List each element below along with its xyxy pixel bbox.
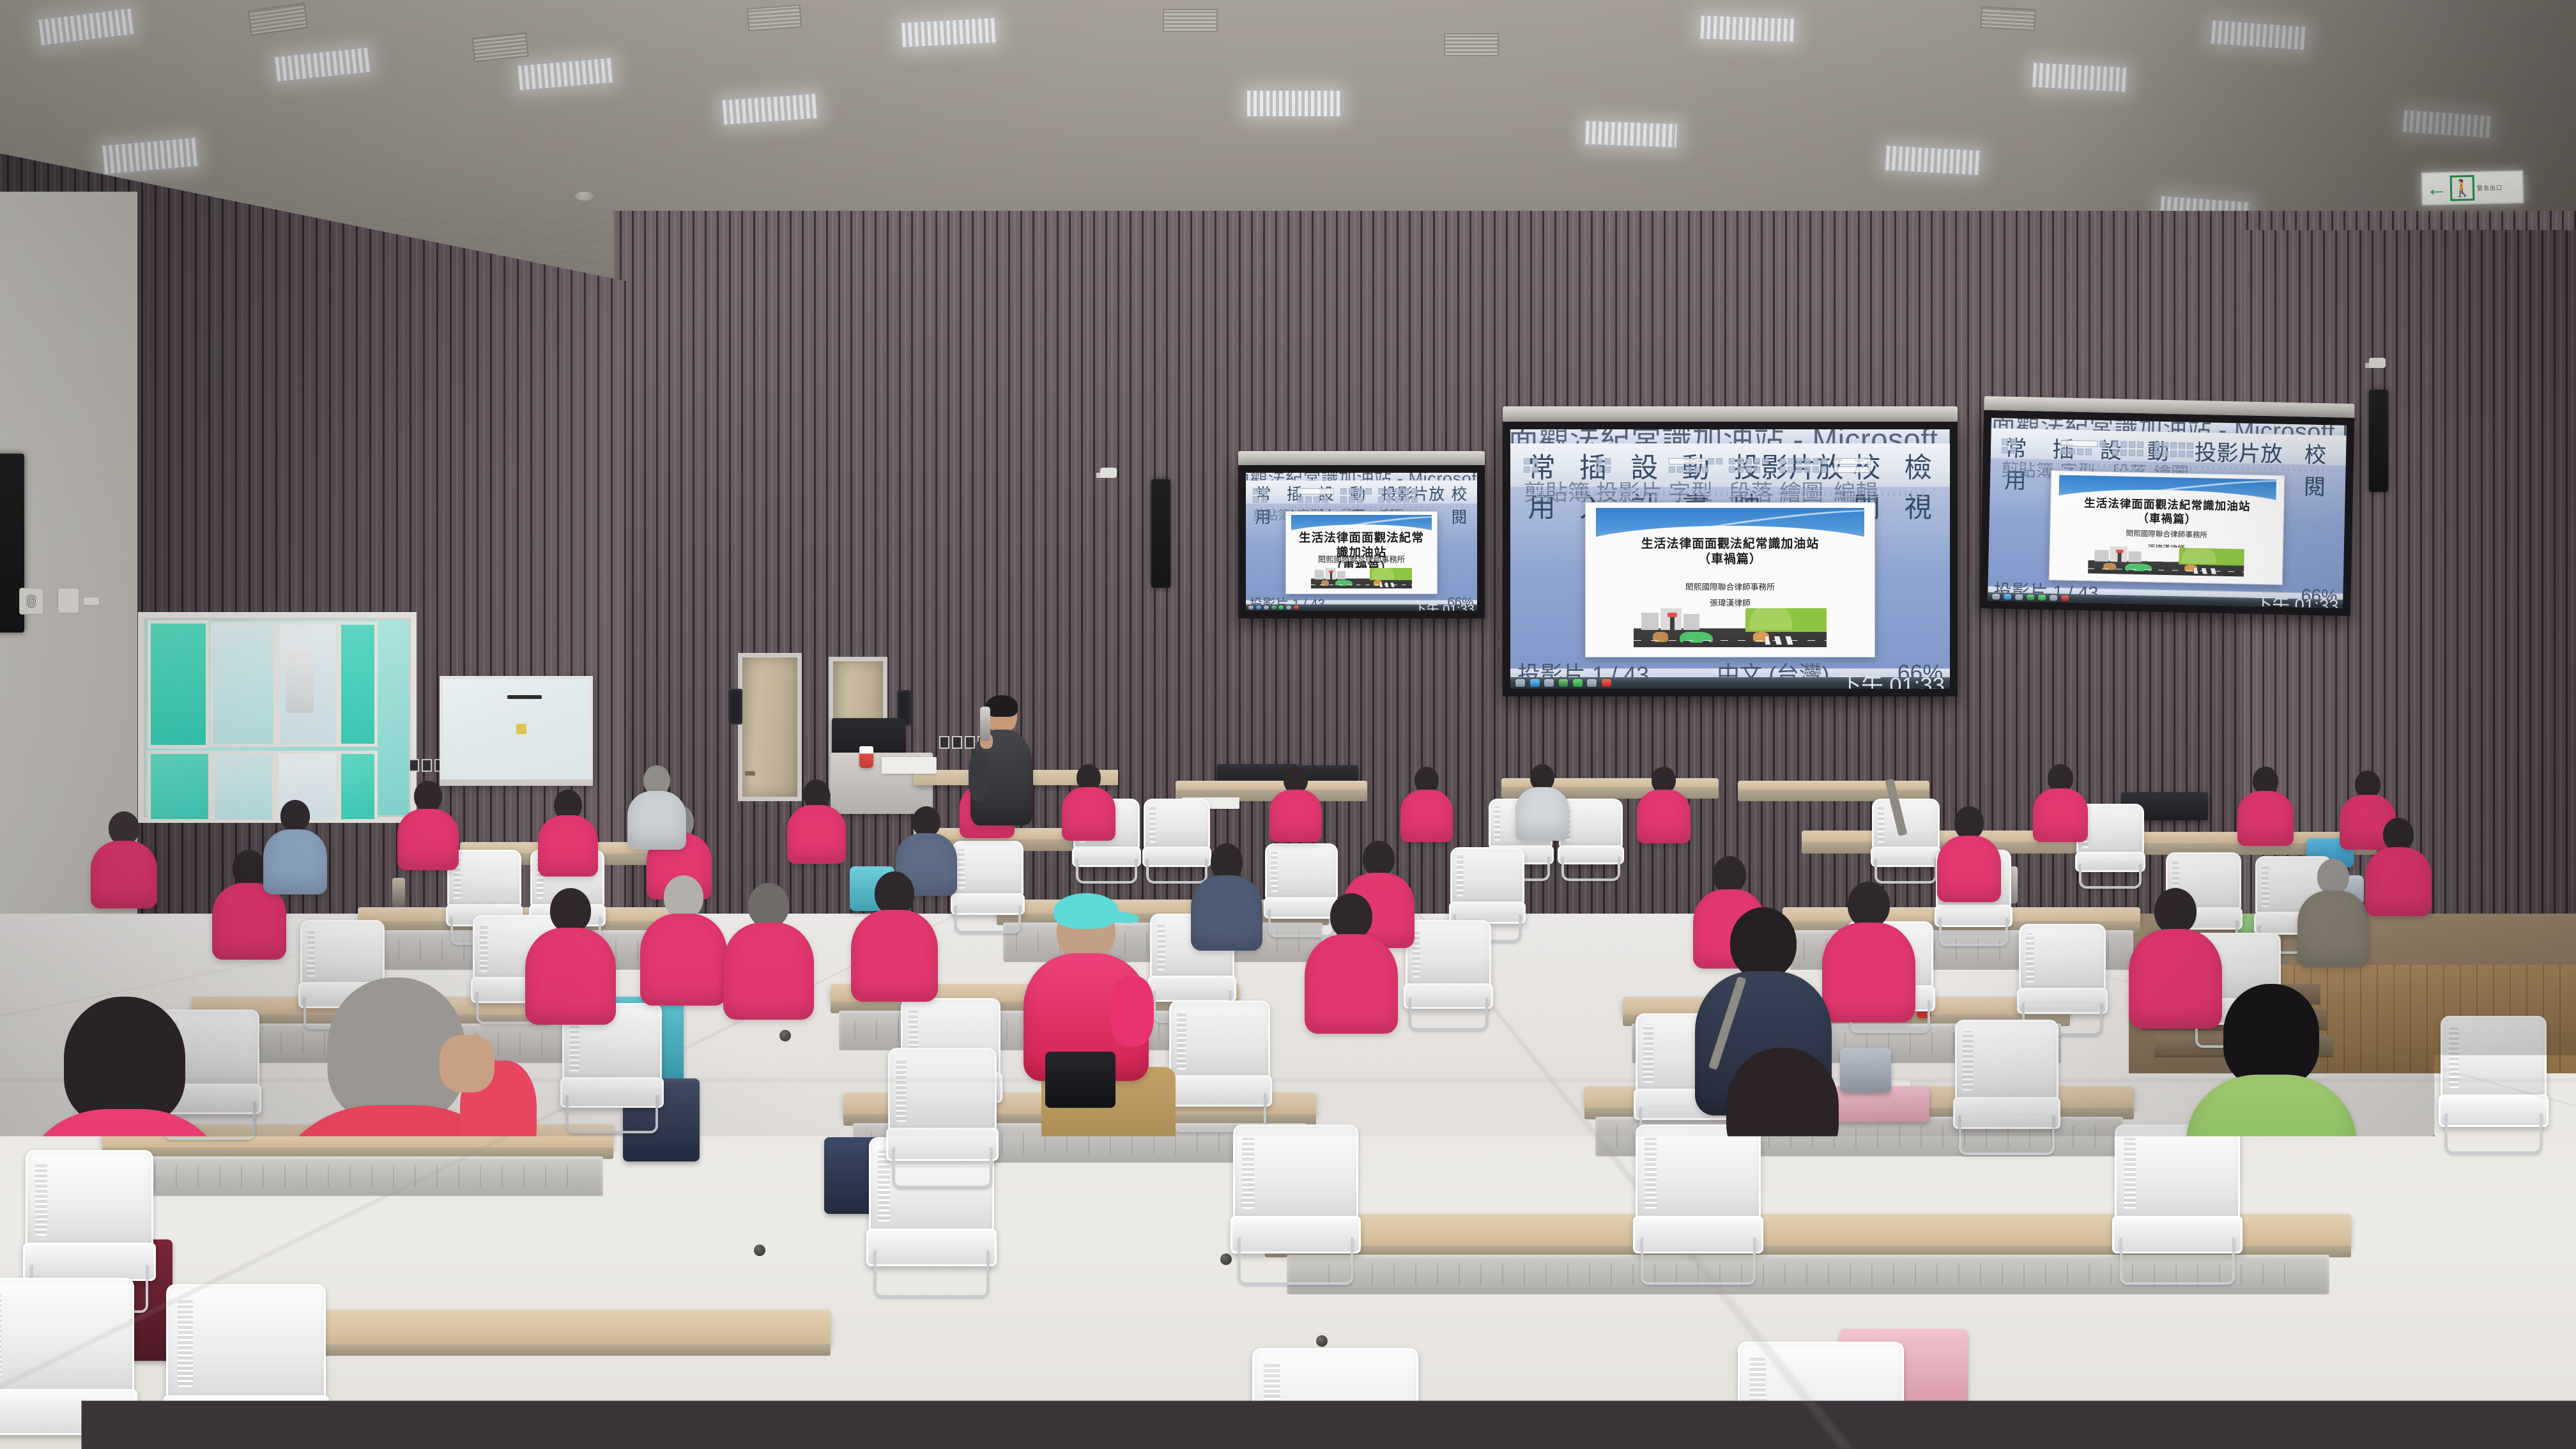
chair[interactable] [888, 1048, 997, 1186]
attendee-torso [1688, 1207, 1877, 1329]
sticky-note-icon [516, 724, 526, 734]
window-pane [338, 751, 378, 822]
window-pane [210, 622, 277, 747]
attendee-head [1730, 907, 1797, 979]
ppt-ribbon: 常用 插入 設計 動畫 投影片放映 校閱 剪貼簿 字型 段落 繪圖 [1246, 480, 1477, 504]
windows-taskbar[interactable]: 下午 01:33 [1510, 677, 1950, 689]
projected-image: 生活法律面面觀法紀常識加油站 - Microsoft PowerPoint 常用… [1510, 429, 1950, 689]
taskbar-clock: 下午 01:33 [1414, 599, 1475, 611]
attendee [1936, 806, 2002, 901]
chair[interactable] [952, 841, 1023, 931]
ppt-ruler [1537, 490, 1923, 497]
taskbar-clock: 下午 01:33 [1839, 667, 1945, 689]
window-pane [277, 622, 339, 747]
screen-frame: 生活法律面面觀法紀常識加油站 - Microsoft PowerPoint 常用… [1503, 422, 1958, 696]
table-caster [1316, 1335, 1328, 1347]
chair[interactable] [2019, 924, 2106, 1034]
left-projection-screen: 生活法律面面觀法紀常識加油站 - Microsoft PowerPoint 常用… [1238, 465, 1485, 618]
whiteboard-tray [440, 779, 592, 786]
ppt-ruler [1260, 505, 1464, 509]
center-projection-screen: 生活法律面面觀法紀常識加油站 - Microsoft PowerPoint 常用… [1503, 422, 1958, 696]
attendee-head [64, 997, 185, 1124]
attendee [1514, 764, 1570, 839]
slide-illustration [2088, 546, 2244, 577]
attendee [524, 888, 617, 1022]
taskbar-start-icon[interactable] [1515, 679, 1525, 687]
attendee-hand [440, 1035, 494, 1092]
taskbar-browser-icon[interactable] [1256, 606, 1261, 609]
table-caster [1220, 1253, 1232, 1265]
taskbar-media-icon[interactable] [1587, 679, 1597, 687]
running-person-icon: 🚶 [2450, 175, 2475, 201]
attendee [2364, 818, 2433, 915]
emergency-exit-sign: ← 🚶 緊急出口 [2421, 170, 2524, 205]
attendee [1687, 1048, 1878, 1322]
microphone-icon [980, 707, 990, 741]
chair[interactable] [1872, 799, 1940, 882]
attendee-arm [1110, 976, 1154, 1046]
attendee [786, 779, 847, 862]
taskbar-pdf-icon[interactable] [2061, 595, 2069, 601]
taskbar-pdf-icon[interactable] [1294, 606, 1299, 609]
wall-speaker-back-left [1151, 479, 1170, 588]
taskbar-pdf-icon[interactable] [1602, 679, 1611, 687]
chair[interactable] [1738, 1342, 1904, 1449]
presenter [963, 698, 1040, 825]
taskbar-browser-icon[interactable] [2004, 594, 2011, 599]
slide-illustration [1634, 608, 1827, 647]
paper-cup [859, 746, 873, 768]
presenter-hair [986, 695, 1018, 717]
attendee-torso [2364, 1259, 2576, 1449]
ppt-group-label: 剪貼簿 [2001, 455, 2054, 482]
taskbar-media-icon[interactable] [1286, 606, 1291, 609]
slide-canvas: 生活法律面面觀法紀常識加油站 （車禍篇） 閎熙國際聯合律師事務所 張瑋漢律師 [1285, 511, 1438, 594]
chair[interactable] [1233, 1124, 1358, 1282]
exit-arrow-icon: ← [2426, 178, 2448, 200]
window-pane [338, 622, 378, 747]
attendee-foreground-right [2364, 1112, 2576, 1449]
chair[interactable] [0, 1278, 134, 1449]
attendee [639, 875, 728, 1003]
attendee [1190, 843, 1264, 949]
windows-taskbar[interactable]: 下午 01:33 [1246, 604, 1477, 611]
whiteboard-marker-icon [507, 695, 542, 699]
window-pane [148, 620, 209, 748]
attendee [1061, 764, 1117, 839]
attendee-head [2412, 1112, 2572, 1278]
taskbar-explorer-icon[interactable] [2027, 595, 2034, 600]
attendee-torso [20, 1109, 229, 1301]
slide-illustration [1311, 568, 1413, 588]
slide-title: 生活法律面面觀法紀常識加油站 （車禍篇） [2067, 495, 2267, 528]
slide-title-line2: （車禍篇） [1607, 552, 1854, 567]
attendee [396, 781, 460, 869]
ppt-ribbon: 常用 插入 設計 動畫 投影片放映 校閱 剪貼簿 字型 段落 繪圖 [1991, 428, 2347, 466]
security-camera-icon [1100, 468, 1117, 478]
window-left [138, 612, 417, 823]
screen-roller-case [1503, 406, 1958, 423]
security-camera-icon [2369, 358, 2386, 368]
taskbar-explorer-icon[interactable] [1271, 606, 1276, 609]
attendee [1303, 893, 1399, 1031]
taskbar-media-icon[interactable] [2050, 595, 2057, 601]
table-caster [754, 1245, 765, 1256]
taskbar-clock: 下午 01:33 [2255, 589, 2339, 608]
shoe [1073, 1265, 1150, 1301]
taskbar-start-icon[interactable] [1248, 606, 1253, 609]
attendee [89, 811, 158, 907]
baseball-cap [1054, 893, 1119, 929]
whiteboard [440, 676, 593, 783]
projected-image: 生活法律面面觀法紀常識加油站 - Microsoft PowerPoint 常用… [1246, 473, 1477, 611]
attendee-foreground-left1 [19, 997, 230, 1297]
attendee-green-shirt [2185, 984, 2357, 1227]
attendee [2296, 859, 2370, 966]
attendee-torso [2186, 1075, 2356, 1234]
attendee [626, 765, 687, 848]
door-handle-icon [745, 771, 755, 776]
chair[interactable] [1955, 1020, 2058, 1153]
table-caster [779, 1030, 791, 1041]
attendee [1636, 767, 1692, 842]
taskbar-browser-icon[interactable] [1530, 679, 1540, 687]
slide-title-line1: 生活法律面面觀法紀常識加油站 [1607, 537, 1854, 552]
water-bottle [392, 878, 405, 907]
classroom-lecture-photo: ← 🚶 緊急出口 生活法律面面觀法紀常識加油站 - Microsoft Powe… [0, 0, 2576, 1449]
wall-speaker-back-right [2369, 390, 2388, 492]
waist-pouch [1045, 1052, 1115, 1108]
attendee [850, 871, 939, 999]
ppt-ribbon: 常用 插入 設計 動畫 投影片放映 校閱 檢視 剪貼簿 投影片 字型 段落 繪圖 [1510, 443, 1950, 487]
slide-canvas: 生活法律面面觀法紀常識加油站 （車禍篇） 閎熙國際聯合律師事務所 張瑋漢律師 [1585, 502, 1875, 658]
attendee [2032, 764, 2089, 841]
attendee [1821, 882, 1917, 1020]
wall-sensor-device [57, 588, 79, 613]
wall-plate [83, 597, 100, 606]
screen-frame: 生活法律面面觀法紀常識加油站 - Microsoft PowerPoint 常用… [1980, 410, 2354, 616]
taskbar-app-icon[interactable] [1544, 679, 1554, 687]
attendee [262, 800, 328, 893]
screen-frame: 生活法律面面觀法紀常識加油站 - Microsoft PowerPoint 常用… [1238, 465, 1485, 618]
attendee-foreground-left2 [268, 977, 524, 1335]
taskbar-app-icon[interactable] [2015, 595, 2023, 600]
projected-image: 生活法律面面觀法紀常識加油站 - Microsoft PowerPoint 常用… [1988, 418, 2347, 608]
attendee [537, 790, 599, 875]
slide-title: 生活法律面面觀法紀常識加油站 （車禍篇） [1607, 537, 1854, 567]
card-reader-left[interactable] [728, 689, 742, 724]
document-tray [882, 757, 937, 774]
table-row1-far-right [1738, 781, 1929, 791]
right-projection-screen: 生活法律面面觀法紀常識加油站 - Microsoft PowerPoint 常用… [1980, 410, 2354, 616]
chair[interactable] [1252, 1348, 1418, 1449]
slide-org: 閎熙國際聯合律師事務所 [1612, 579, 1848, 595]
chair[interactable] [1169, 1000, 1270, 1130]
wall-alarm-device [19, 588, 43, 615]
exit-sign-label: 緊急出口 [2477, 183, 2503, 192]
attendee [2236, 767, 2295, 845]
taskbar-app-icon[interactable] [1264, 606, 1269, 609]
slide-org: 閎熙國際聯合律師事務所 [1299, 553, 1423, 568]
attendee [1399, 767, 1454, 841]
chair[interactable] [1406, 920, 1491, 1029]
slide-canvas: 生活法律面面觀法紀常識加油站 （車禍篇） 閎熙國際聯合律師事務所 張瑋漢律師 [2048, 470, 2285, 585]
attendee-head [2223, 984, 2319, 1086]
slide-subtitle: 閎熙國際聯合律師事務所 張瑋漢律師 [1612, 579, 1848, 610]
taskbar-start-icon[interactable] [1992, 594, 2000, 599]
attendee [722, 883, 815, 1017]
taskbar-chrome-icon[interactable] [1278, 606, 1284, 609]
attendee [1268, 767, 1323, 841]
taskbar-chrome-icon[interactable] [2038, 595, 2046, 600]
taskbar-chrome-icon[interactable] [1573, 679, 1583, 687]
presenter-arm [969, 753, 988, 801]
taskbar-explorer-icon[interactable] [1559, 679, 1568, 687]
